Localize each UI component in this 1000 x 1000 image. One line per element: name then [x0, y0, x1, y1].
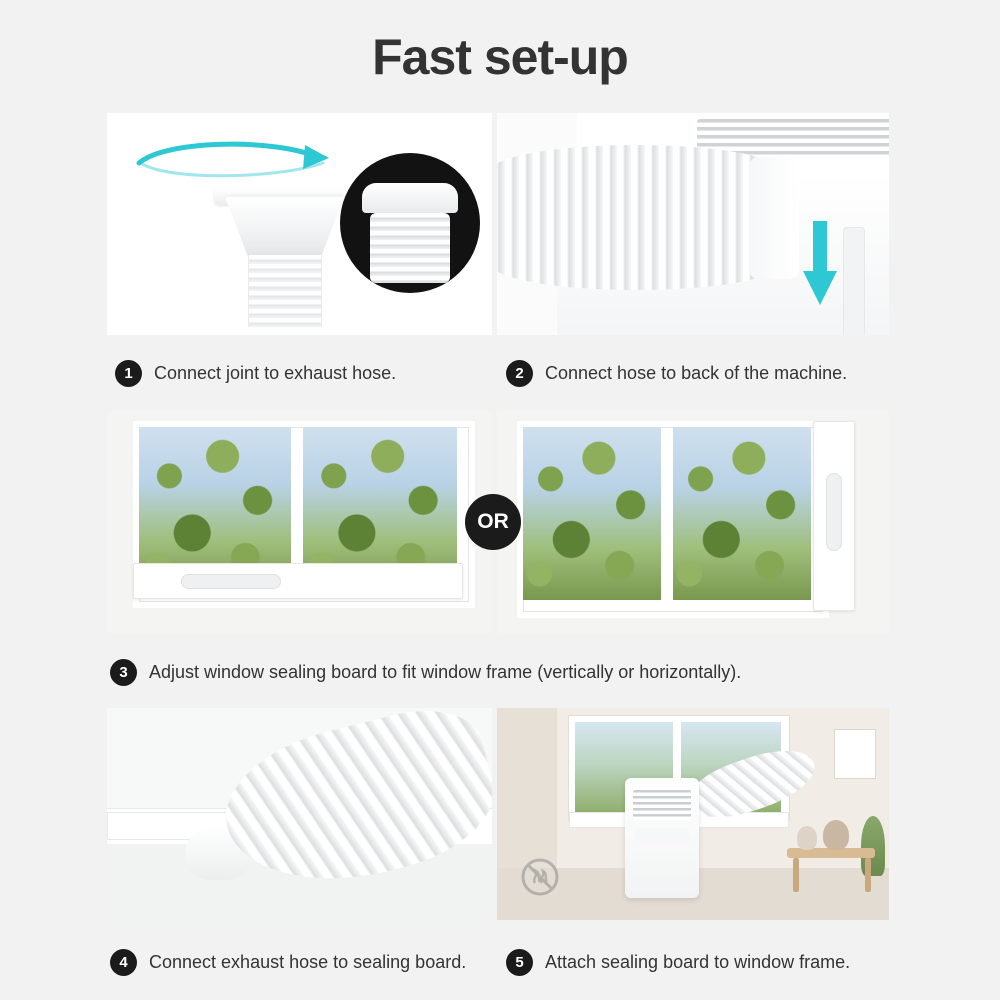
setup-instructions-page: Fast set-up 1 Con	[0, 0, 1000, 1000]
step-2-caption: 2 Connect hose to back of the machine.	[506, 360, 847, 387]
joint-closeup-hose	[370, 213, 450, 283]
sealing-board	[133, 563, 463, 599]
step-4-text: Connect exhaust hose to sealing board.	[149, 952, 466, 973]
window-sealing-board-vertical-photo	[107, 411, 492, 633]
down-arrow-icon	[803, 221, 837, 305]
step-3-number: 3	[110, 659, 137, 686]
joint-and-hose-photo	[107, 113, 492, 335]
vase	[797, 826, 817, 850]
sealing-board-port	[826, 473, 842, 551]
step-5-number: 5	[506, 949, 533, 976]
sealing-board-port	[181, 574, 281, 589]
step-3-caption: 3 Adjust window sealing board to fit win…	[110, 659, 741, 686]
hose-cuff	[749, 157, 799, 279]
ac-back-panel	[843, 227, 865, 335]
or-badge: OR	[465, 494, 521, 550]
step-5-text: Attach sealing board to window frame.	[545, 952, 850, 973]
table-leg	[865, 858, 871, 892]
ac-grille	[633, 790, 691, 820]
portable-ac-in-room-photo	[497, 708, 889, 920]
table-leg	[793, 858, 799, 892]
step-2-text: Connect hose to back of the machine.	[545, 363, 847, 384]
exhaust-hose	[248, 255, 322, 327]
step-1-number: 1	[115, 360, 142, 387]
step-4-number: 4	[110, 949, 137, 976]
no-heat-icon	[519, 856, 561, 898]
joint-closeup-inset	[340, 153, 480, 293]
ac-control-panel	[635, 828, 689, 842]
joint-closeup-cap	[362, 183, 458, 213]
vase	[823, 820, 849, 850]
window-sealing-board-horizontal-photo	[497, 411, 889, 633]
window-pane-left	[523, 427, 661, 600]
step-3-text: Adjust window sealing board to fit windo…	[149, 662, 741, 683]
rotate-arrow-icon	[127, 133, 347, 181]
wall-picture-frame	[835, 730, 875, 778]
step-1-caption: 1 Connect joint to exhaust hose.	[115, 360, 396, 387]
sealing-board	[813, 421, 855, 611]
window-frame	[517, 421, 829, 618]
step-1-text: Connect joint to exhaust hose.	[154, 363, 396, 384]
page-title: Fast set-up	[0, 28, 1000, 86]
step-5-caption: 5 Attach sealing board to window frame.	[506, 949, 850, 976]
hose-to-sealing-board-photo	[107, 708, 492, 920]
exhaust-hose	[497, 145, 781, 290]
hose-to-machine-photo	[497, 113, 889, 335]
portable-air-conditioner	[625, 778, 699, 898]
step-4-caption: 4 Connect exhaust hose to sealing board.	[110, 949, 466, 976]
step-2-number: 2	[506, 360, 533, 387]
window-pane-right	[673, 427, 811, 600]
